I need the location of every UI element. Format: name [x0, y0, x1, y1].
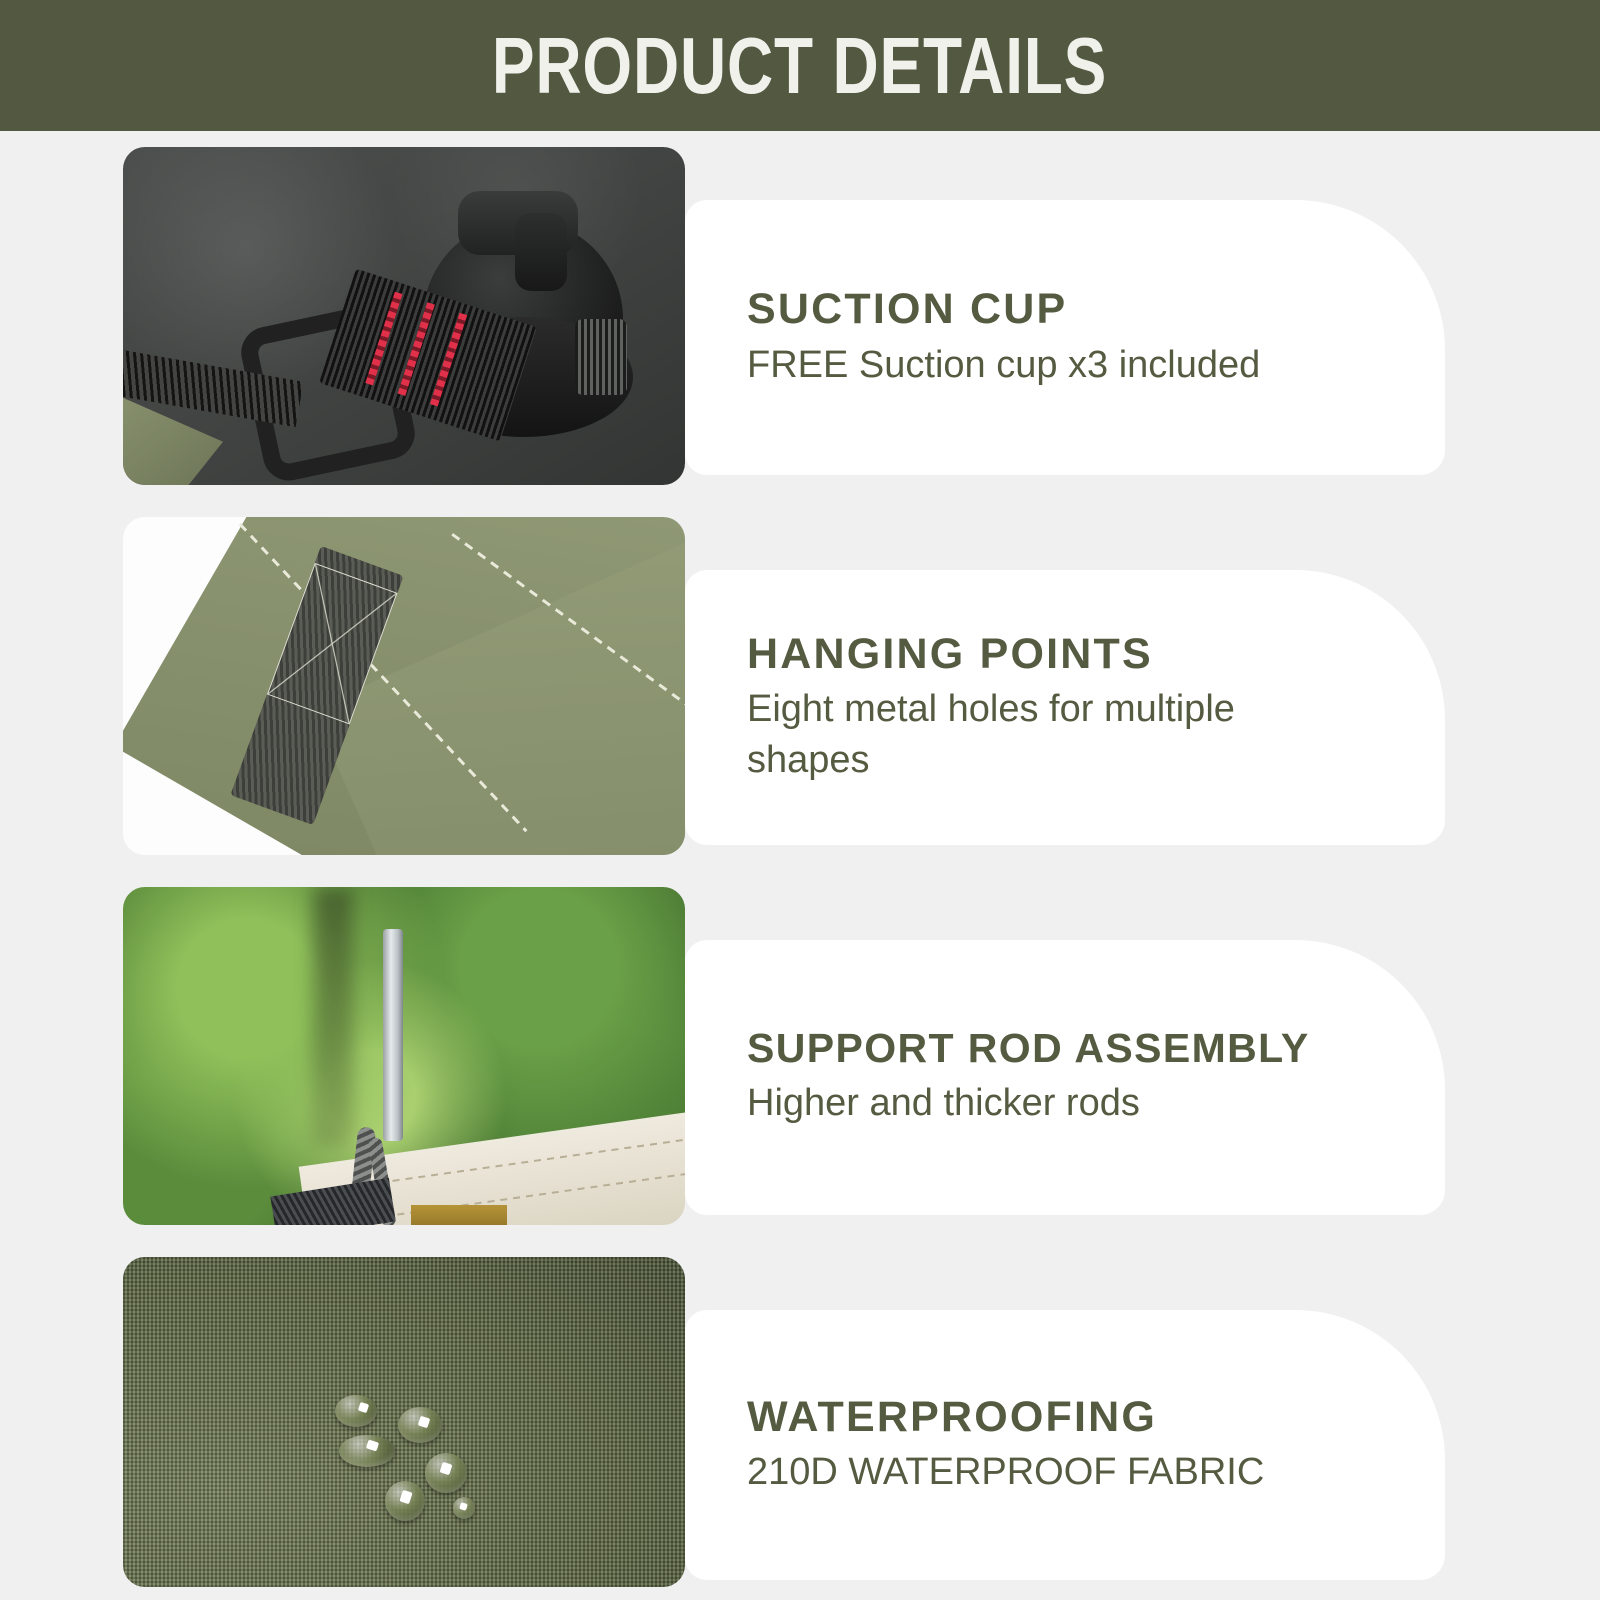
feature-description: Higher and thicker rods — [747, 1078, 1347, 1128]
hanging-points-photo-image — [123, 517, 685, 855]
suction-cup-photo — [123, 147, 685, 485]
feature-description: Eight metal holes for multiple shapes — [747, 684, 1347, 784]
water-bead-icon — [339, 1435, 395, 1467]
feature-card-support-rod: SUPPORT ROD ASSEMBLY Higher and thicker … — [685, 940, 1445, 1215]
page-header: PRODUCT DETAILS — [0, 0, 1600, 131]
feature-row-suction-cup: SUCTION CUP FREE Suction cup x3 included — [0, 131, 1600, 501]
blurred-tree-icon — [313, 887, 353, 1147]
support-rod-photo-image — [123, 887, 685, 1225]
feature-row-waterproofing: WATERPROOFING 210D WATERPROOF FABRIC — [0, 1241, 1600, 1600]
feature-description: FREE Suction cup x3 included — [747, 340, 1347, 390]
suction-cup-screw-icon — [575, 319, 627, 395]
water-bead-icon — [335, 1395, 377, 1427]
suction-cup-photo-image — [123, 147, 685, 485]
brass-grommet-icon — [411, 1205, 507, 1225]
hanging-points-photo — [123, 517, 685, 855]
feature-title: WATERPROOFING — [747, 1393, 1445, 1441]
feature-description: 210D WATERPROOF FABRIC — [747, 1447, 1427, 1497]
support-rod-icon — [383, 929, 403, 1141]
red-stitch-icon — [365, 292, 402, 386]
support-rod-photo — [123, 887, 685, 1225]
feature-card-waterproofing: WATERPROOFING 210D WATERPROOF FABRIC — [685, 1310, 1445, 1580]
red-stitch-icon — [430, 313, 467, 407]
feature-title: HANGING POINTS — [747, 630, 1445, 678]
feature-row-hanging-points: HANGING POINTS Eight metal holes for mul… — [0, 501, 1600, 871]
feature-title: SUPPORT ROD ASSEMBLY — [747, 1026, 1445, 1072]
page-title: PRODUCT DETAILS — [492, 26, 1107, 106]
red-stitch-icon — [398, 302, 435, 396]
feature-card-suction-cup: SUCTION CUP FREE Suction cup x3 included — [685, 200, 1445, 475]
feature-title: SUCTION CUP — [747, 285, 1445, 333]
waterproof-fabric-photo-image — [123, 1257, 685, 1587]
waterproof-fabric-photo — [123, 1257, 685, 1587]
feature-card-hanging-points: HANGING POINTS Eight metal holes for mul… — [685, 570, 1445, 845]
suction-cup-knob-icon — [515, 213, 567, 291]
feature-row-support-rod: SUPPORT ROD ASSEMBLY Higher and thicker … — [0, 871, 1600, 1241]
